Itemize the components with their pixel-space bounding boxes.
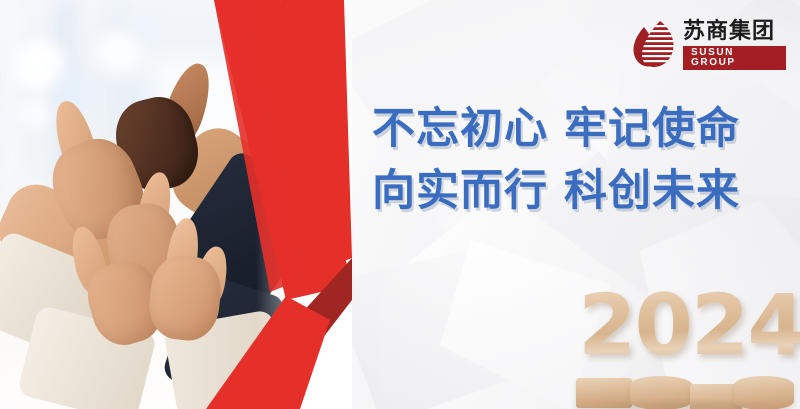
year-2024: 2024 bbox=[578, 276, 793, 396]
logo-wordmark: 苏商集团 SUSUN GROUP bbox=[683, 21, 786, 70]
susun-droplet-mark-icon bbox=[630, 19, 676, 71]
year-ground-shadow bbox=[578, 398, 794, 409]
logo-chinese-name: 苏商集团 bbox=[683, 21, 775, 43]
banner-root: 不忘初心 牢记使命 向实而行 科创未来 2024 bbox=[0, 0, 800, 409]
ribbon-lower-band bbox=[206, 296, 330, 409]
headline-line-2: 向实而行 科创未来 bbox=[372, 160, 772, 222]
headline-line-1: 不忘初心 牢记使命 bbox=[372, 98, 772, 160]
susun-group-logo[interactable]: 苏商集团 SUSUN GROUP bbox=[630, 12, 786, 78]
headline: 不忘初心 牢记使命 向实而行 科创未来 bbox=[372, 98, 772, 222]
year-label: 2024 bbox=[578, 276, 800, 374]
logo-english-name: SUSUN GROUP bbox=[683, 46, 786, 70]
